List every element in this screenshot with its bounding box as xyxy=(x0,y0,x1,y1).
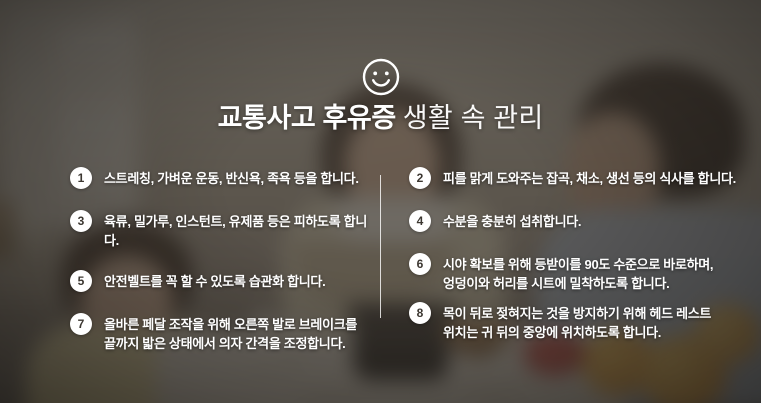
item-line: 끝까지 밟은 상태에서 의자 간격을 조정합니다. xyxy=(104,334,357,353)
item-number-badge: 1 xyxy=(70,167,92,189)
smiley-icon-wrap xyxy=(0,57,761,97)
column-divider xyxy=(380,175,381,318)
list-item: 4 수분을 충분히 섭취합니다. xyxy=(409,211,754,233)
item-line: 수분을 충분히 섭취합니다. xyxy=(443,214,581,229)
tips-column-left: 1 스트레칭, 가벼운 운동, 반신욕, 족욕 등을 합니다. 3 육류, 밀가… xyxy=(70,168,370,353)
list-item: 2 피를 맑게 도와주는 잡곡, 채소, 생선 등의 식사를 합니다. xyxy=(409,168,754,190)
item-number-badge: 4 xyxy=(409,210,431,232)
item-number-badge: 6 xyxy=(409,253,431,275)
tips-column-right: 2 피를 맑게 도와주는 잡곡, 채소, 생선 등의 식사를 합니다. 4 수분… xyxy=(409,168,754,342)
item-text: 목이 뒤로 젖혀지는 것을 방지하기 위해 헤드 레스트 위치는 귀 뒤의 중앙… xyxy=(443,303,711,342)
banner-content: 교통사고 후유증생활 속 관리 1 스트레칭, 가벼운 운동, 반신욕, 족욕 … xyxy=(0,0,761,403)
item-line: 스트레칭, 가벼운 운동, 반신욕, 족욕 등을 합니다. xyxy=(104,171,359,186)
item-line: 위치는 귀 뒤의 중앙에 위치하도록 합니다. xyxy=(443,323,711,342)
item-line: 목이 뒤로 젖혀지는 것을 방지하기 위해 헤드 레스트 xyxy=(443,304,711,323)
list-item: 3 육류, 밀가루, 인스턴트, 유제품 등은 피하도록 합니다. xyxy=(70,211,370,250)
item-line: 육류, 밀가루, 인스턴트, 유제품 등은 피하도록 합니다. xyxy=(104,214,367,248)
item-number-badge: 8 xyxy=(409,302,431,324)
item-line: 올바른 페달 조작을 위해 오른쪽 발로 브레이크를 xyxy=(104,315,357,334)
list-item: 8 목이 뒤로 젖혀지는 것을 방지하기 위해 헤드 레스트 위치는 귀 뒤의 … xyxy=(409,303,754,342)
item-number-badge: 7 xyxy=(70,313,92,335)
title-strong: 교통사고 후유증 xyxy=(218,103,396,133)
item-text: 올바른 페달 조작을 위해 오른쪽 발로 브레이크를 끝까지 밟은 상태에서 의… xyxy=(104,314,357,353)
item-text: 안전벨트를 꼭 할 수 있도록 습관화 합니다. xyxy=(104,271,325,291)
title-light: 생활 속 관리 xyxy=(403,103,544,133)
item-text: 수분을 충분히 섭취합니다. xyxy=(443,211,581,231)
item-number-badge: 2 xyxy=(409,167,431,189)
list-item: 5 안전벨트를 꼭 할 수 있도록 습관화 합니다. xyxy=(70,271,370,293)
infographic-banner: 교통사고 후유증생활 속 관리 1 스트레칭, 가벼운 운동, 반신욕, 족욕 … xyxy=(0,0,761,403)
item-text: 피를 맑게 도와주는 잡곡, 채소, 생선 등의 식사를 합니다. xyxy=(443,168,736,188)
smiley-face-icon xyxy=(361,57,401,97)
item-line: 엉덩이와 허리를 시트에 밀착하도록 합니다. xyxy=(443,274,713,293)
list-item: 6 시야 확보를 위해 등받이를 90도 수준으로 바로하며, 엉덩이와 허리를… xyxy=(409,254,754,293)
item-number-badge: 3 xyxy=(70,210,92,232)
item-line: 안전벨트를 꼭 할 수 있도록 습관화 합니다. xyxy=(104,274,325,289)
item-text: 육류, 밀가루, 인스턴트, 유제품 등은 피하도록 합니다. xyxy=(104,211,370,250)
page-title: 교통사고 후유증생활 속 관리 xyxy=(0,101,761,135)
item-line: 시야 확보를 위해 등받이를 90도 수준으로 바로하며, xyxy=(443,255,713,274)
list-item: 1 스트레칭, 가벼운 운동, 반신욕, 족욕 등을 합니다. xyxy=(70,168,370,190)
item-line: 피를 맑게 도와주는 잡곡, 채소, 생선 등의 식사를 합니다. xyxy=(443,171,736,186)
item-text: 시야 확보를 위해 등받이를 90도 수준으로 바로하며, 엉덩이와 허리를 시… xyxy=(443,254,713,293)
item-text: 스트레칭, 가벼운 운동, 반신욕, 족욕 등을 합니다. xyxy=(104,168,359,188)
item-number-badge: 5 xyxy=(70,270,92,292)
list-item: 7 올바른 페달 조작을 위해 오른쪽 발로 브레이크를 끝까지 밟은 상태에서… xyxy=(70,314,370,353)
